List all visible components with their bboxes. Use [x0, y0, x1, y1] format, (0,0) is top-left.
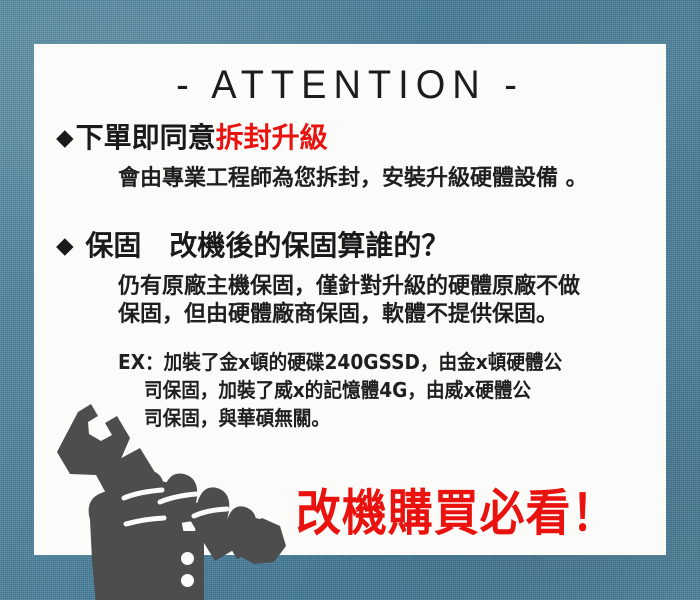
- poster-canvas: - ATTENTION - ◆下單即同意拆封升級 會由專業工程師為您拆封，安裝升…: [0, 0, 700, 600]
- section-2-heading-black: 保固 改機後的保固算誰的？: [85, 229, 449, 262]
- sleeve-button-top: [181, 552, 194, 565]
- section-2-body-line-2: 保固，但由硬體廠商保固，軟體不提供保固。: [118, 296, 558, 328]
- section-1-heading-black: 下單即同意: [76, 121, 216, 154]
- example-line-1: EX：加裝了金x頓的硬碟240GSSD，由金x頓硬體公: [118, 346, 562, 375]
- sleeve-button-bottom: [181, 574, 194, 587]
- page-title: - ATTENTION -: [34, 63, 666, 109]
- section-1-heading-red: 拆封升級: [216, 121, 328, 154]
- diamond-bullet-icon: ◆: [56, 125, 74, 151]
- slogan-text: 改機購買必看！: [296, 473, 617, 545]
- section-1-body-line-1: 會由專業工程師為您拆封，安裝升級硬體設備 。: [118, 160, 588, 192]
- diamond-bullet-icon: ◆: [56, 233, 74, 259]
- sleeve-cuff: [128, 531, 204, 600]
- section-2-heading: ◆ 保固 改機後的保固算誰的？: [56, 224, 449, 264]
- section-1-heading: ◆下單即同意拆封升級: [56, 116, 328, 156]
